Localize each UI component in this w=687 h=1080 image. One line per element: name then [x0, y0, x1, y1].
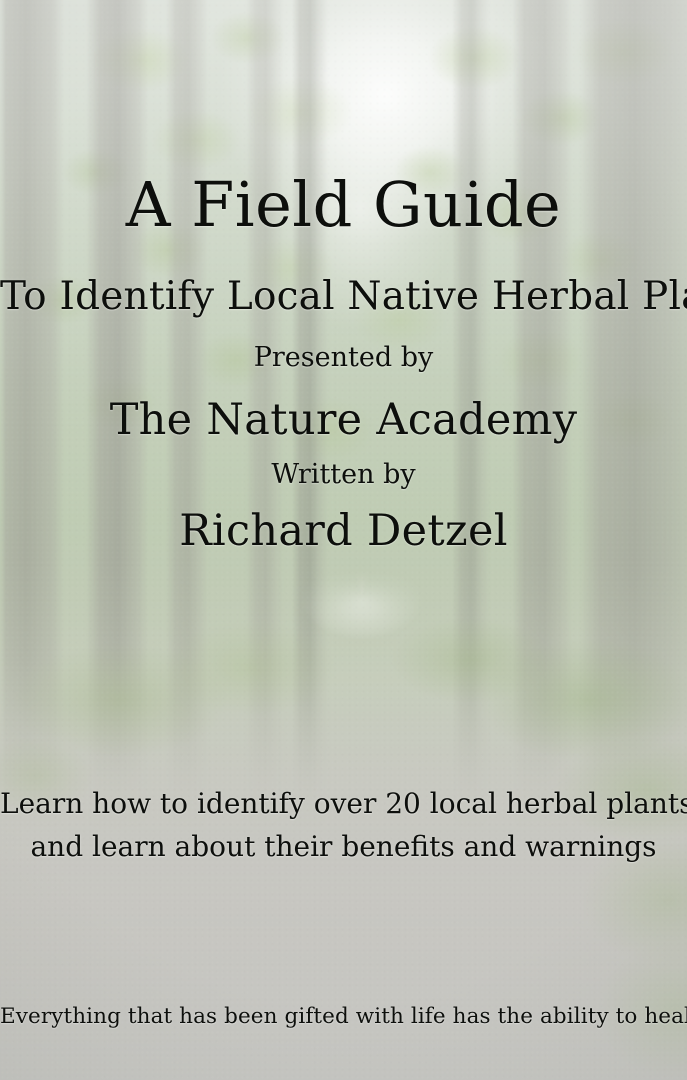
- cover-tagline: Learn how to identify over 20 local herb…: [0, 783, 687, 868]
- tagline-line-1: Learn how to identify over 20 local herb…: [0, 783, 687, 826]
- book-cover: A Field Guide To Identify Local Native H…: [0, 0, 687, 1080]
- cover-title: A Field Guide: [0, 172, 687, 238]
- publisher-name: The Nature Academy: [0, 398, 687, 444]
- written-by-label: Written by: [0, 461, 687, 490]
- tagline-line-2: and learn about their benefits and warni…: [0, 826, 687, 869]
- cover-quote: Everything that has been gifted with lif…: [0, 1006, 687, 1029]
- cover-subtitle: To Identify Local Native Herbal Plants: [0, 276, 687, 317]
- presented-by-label: Presented by: [0, 344, 687, 373]
- author-name: Richard Detzel: [0, 509, 687, 555]
